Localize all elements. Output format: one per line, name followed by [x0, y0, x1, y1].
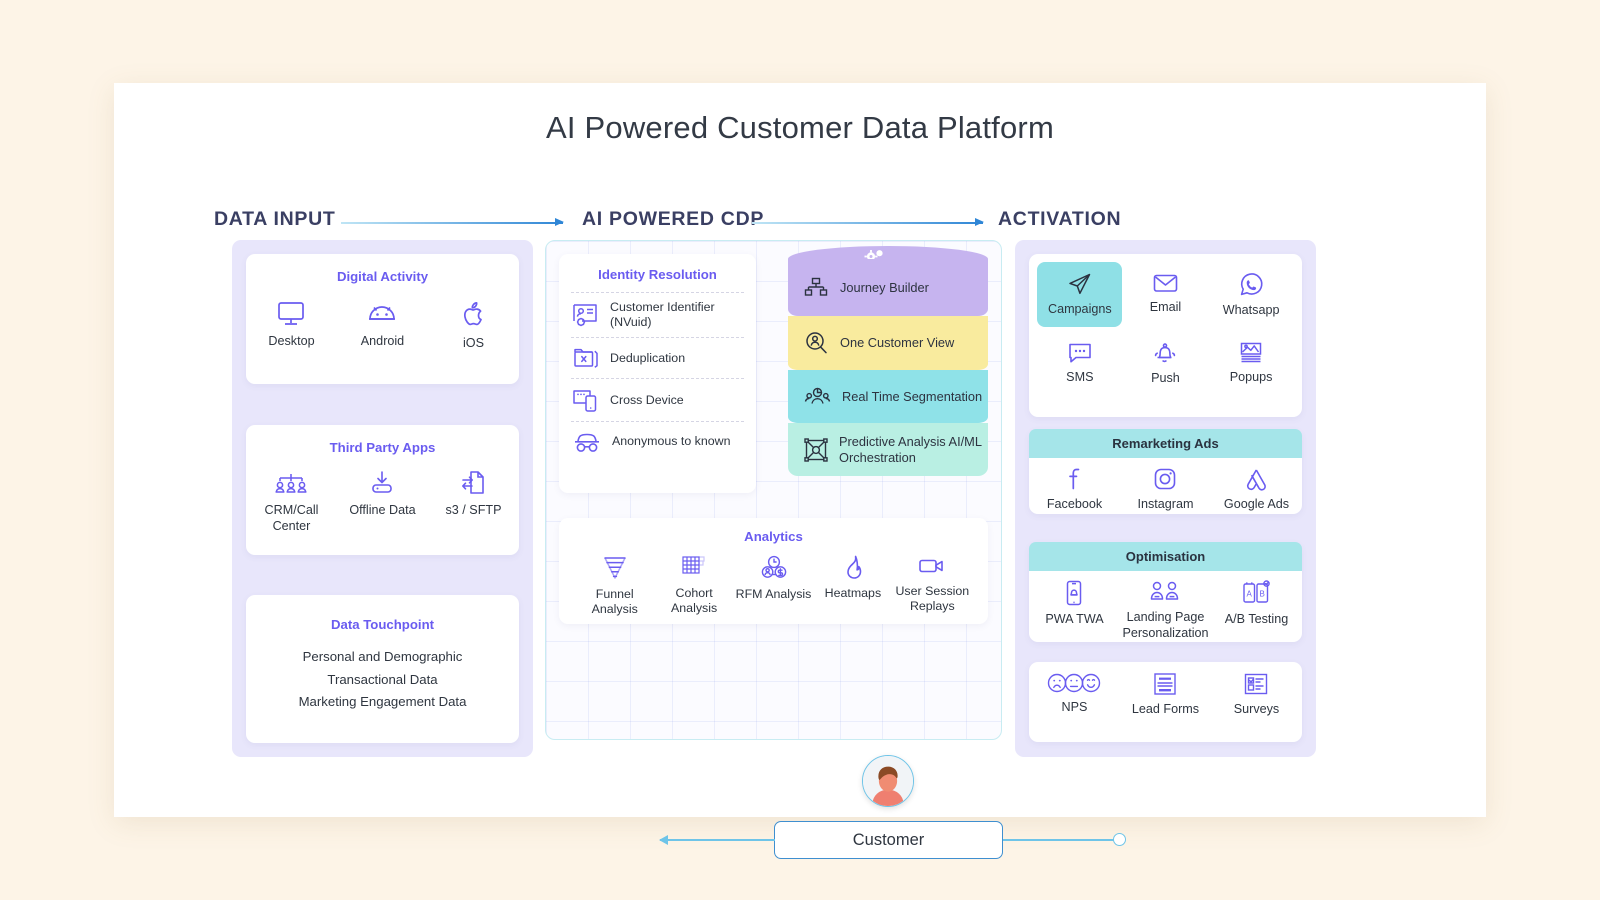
optimisation-item-landing-page-personalization[interactable]: Landing Page Personalization [1120, 580, 1210, 641]
remarketing-ads-card: Remarketing Ads Facebook [1029, 429, 1302, 514]
mobile-app-icon [1064, 580, 1084, 606]
analytics-card: Analytics Funnel Analysis [559, 518, 988, 624]
identity-item-anonymous-to-known[interactable]: Anonymous to known [571, 421, 744, 461]
paper-plane-icon [1067, 272, 1093, 296]
grid-cohort-icon [681, 554, 708, 580]
label: SMS [1066, 370, 1093, 386]
label: A/B Testing [1225, 612, 1288, 628]
sms-bubble-icon [1067, 341, 1093, 364]
label: Cohort Analysis [654, 586, 733, 617]
label: Cross Device [610, 393, 684, 408]
label: Surveys [1234, 702, 1280, 718]
bell-icon [1152, 341, 1178, 365]
arrow-cdp-to-activation [752, 222, 983, 224]
label: Customer Identifier (NVuid) [610, 300, 744, 330]
identity-resolution-title: Identity Resolution [559, 267, 756, 282]
feedback-item-surveys[interactable]: Surveys [1211, 672, 1301, 718]
label: Real Time Segmentation [842, 389, 982, 404]
activation-item-email[interactable]: Email [1123, 262, 1208, 325]
label: Android [361, 334, 404, 350]
data-input-column: Digital Activity Desktop [232, 240, 533, 757]
label: iOS [463, 336, 484, 352]
android-icon [366, 300, 398, 328]
feedback-item-lead-forms[interactable]: Lead Forms [1120, 672, 1210, 718]
cdp-core-stack: Journey Builder One Customer View [788, 246, 988, 481]
person-search-icon [804, 331, 829, 355]
analytics-item-heatmaps[interactable]: Heatmaps [813, 554, 892, 618]
label: Instagram [1137, 497, 1193, 513]
desktop-icon [276, 300, 306, 328]
file-transfer-icon [459, 469, 487, 497]
activation-item-whatsapp[interactable]: Whatsapp [1209, 262, 1294, 328]
data-touchpoint-card: Data Touchpoint Personal and Demographic… [246, 595, 519, 743]
stage-label-data-input: DATA INPUT [214, 208, 335, 231]
activation-item-push[interactable]: Push [1123, 335, 1208, 396]
sitemap-icon [804, 277, 829, 299]
flow-endpoint-circle [1113, 833, 1126, 846]
stack-band-journey-builder[interactable]: Journey Builder [788, 259, 988, 316]
identity-item-deduplication[interactable]: Deduplication [571, 337, 744, 378]
customer-box[interactable]: Customer [774, 821, 1003, 859]
label: Deduplication [610, 351, 685, 366]
label: Whatsapp [1223, 303, 1280, 319]
analytics-item-cohort-analysis[interactable]: Cohort Analysis [654, 554, 733, 618]
funnel-icon [602, 554, 628, 581]
label: NPS [1062, 700, 1088, 716]
optimisation-card: Optimisation PWA TWA [1029, 542, 1302, 642]
stack-band-real-time-segmentation[interactable]: Real Time Segmentation [788, 370, 988, 423]
feedback-item-nps[interactable]: NPS [1029, 672, 1119, 716]
envelope-icon [1152, 272, 1179, 294]
label: Landing Page Personalization [1120, 610, 1210, 641]
org-chart-icon [274, 469, 308, 497]
optimisation-item-pwa-twa[interactable]: PWA TWA [1029, 580, 1119, 628]
data-source-desktop[interactable]: Desktop [246, 300, 336, 350]
svg-text:B: B [1260, 590, 1265, 599]
label: Desktop [268, 334, 314, 350]
cross-device-icon [571, 386, 601, 414]
label: Popups [1230, 370, 1273, 386]
remarketing-ads-title: Remarketing Ads [1029, 429, 1302, 458]
flame-icon [842, 554, 864, 580]
label: Push [1151, 371, 1180, 387]
activation-item-sms[interactable]: SMS [1037, 335, 1122, 395]
touchpoint-line: Transactional Data [246, 669, 519, 692]
analytics-title: Analytics [559, 529, 988, 544]
ads-item-google-ads[interactable]: Google Ads [1211, 467, 1301, 513]
channels-card: Campaigns Email [1029, 254, 1302, 417]
label: Journey Builder [840, 280, 929, 295]
optimisation-item-ab-testing[interactable]: A B A/B Testing [1211, 580, 1301, 628]
data-source-ios[interactable]: iOS [428, 300, 518, 352]
flow-arrow-left [659, 835, 668, 845]
arrow-input-to-cdp [341, 222, 563, 224]
label: s3 / SFTP [446, 503, 502, 519]
segment-users-icon [804, 386, 831, 408]
stage-label-activation: ACTIVATION [998, 208, 1121, 231]
analytics-item-rfm-analysis[interactable]: RFM Analysis [734, 554, 813, 618]
third-party-apps-title: Third Party Apps [246, 440, 519, 455]
label: CRM/Call Center [246, 503, 336, 534]
label: Campaigns [1048, 302, 1112, 318]
touchpoint-line: Marketing Engagement Data [246, 691, 519, 714]
label: Funnel Analysis [575, 587, 654, 618]
identity-resolution-card: Identity Resolution Customer Identifier … [559, 254, 756, 493]
label: One Customer View [840, 335, 954, 350]
analytics-item-user-session-replays[interactable]: User Session Replays [893, 554, 972, 618]
popup-image-icon [1238, 341, 1264, 364]
label: Facebook [1047, 497, 1102, 513]
customer-label: Customer [853, 831, 925, 850]
digital-activity-card: Digital Activity Desktop [246, 254, 519, 384]
label: Google Ads [1224, 497, 1289, 513]
smiley-faces-icon [1047, 672, 1101, 694]
flow-line-right [1003, 839, 1119, 841]
id-card-gear-icon [571, 300, 601, 330]
label: Lead Forms [1132, 702, 1199, 718]
incognito-icon [571, 430, 603, 454]
identity-item-cross-device[interactable]: Cross Device [571, 378, 744, 421]
label: Heatmaps [825, 586, 881, 601]
label: Offline Data [349, 503, 415, 519]
third-party-apps-card: Third Party Apps CRM/Call Center [246, 425, 519, 555]
stack-band-predictive-analysis[interactable]: Predictive Analysis AI/ML Orchestration [788, 423, 988, 476]
data-source-android[interactable]: Android [337, 300, 427, 350]
data-source-s3-sftp[interactable]: s3 / SFTP [428, 469, 518, 519]
folder-x-icon [571, 345, 601, 371]
data-source-offline-data[interactable]: Offline Data [337, 469, 427, 519]
customer-avatar [862, 755, 914, 807]
data-source-crm-call-center[interactable]: CRM/Call Center [246, 469, 336, 534]
optimisation-title: Optimisation [1029, 542, 1302, 571]
ab-test-icon: A B [1242, 580, 1270, 606]
identity-item-customer-identifier[interactable]: Customer Identifier (NVuid) [571, 292, 744, 337]
ads-item-instagram[interactable]: Instagram [1120, 467, 1210, 513]
label: PWA TWA [1045, 612, 1103, 628]
label: Anonymous to known [612, 434, 730, 449]
google-ads-icon [1244, 467, 1269, 491]
stage-header-row: DATA INPUT AI POWERED CDP ACTIVATION [114, 208, 1486, 238]
stage-label-ai-powered-cdp: AI POWERED CDP [582, 208, 764, 231]
label: Email [1150, 300, 1182, 316]
activation-item-popups[interactable]: Popups [1209, 335, 1294, 395]
rfm-icon [760, 554, 788, 581]
activation-item-campaigns[interactable]: Campaigns [1037, 262, 1122, 327]
ads-item-facebook[interactable]: Facebook [1029, 467, 1119, 513]
two-persons-icon [1148, 580, 1182, 604]
activation-column: Campaigns Email [1015, 240, 1316, 757]
whatsapp-icon [1239, 272, 1264, 297]
feedback-card: NPS Lead Forms [1029, 662, 1302, 742]
survey-checklist-icon [1243, 672, 1269, 696]
download-device-icon [367, 469, 397, 497]
instagram-icon [1153, 467, 1177, 491]
predictive-ai-icon [804, 438, 828, 462]
video-camera-icon [918, 554, 946, 578]
label: RFM Analysis [736, 587, 812, 602]
facebook-icon [1065, 467, 1083, 491]
touchpoint-line: Personal and Demographic [246, 646, 519, 669]
label: User Session Replays [893, 584, 972, 615]
diagram-card: AI Powered Customer Data Platform DATA I… [114, 83, 1486, 817]
data-touchpoint-title: Data Touchpoint [246, 617, 519, 632]
digital-activity-title: Digital Activity [246, 269, 519, 284]
stack-band-one-customer-view[interactable]: One Customer View [788, 316, 988, 370]
analytics-item-funnel-analysis[interactable]: Funnel Analysis [575, 554, 654, 618]
label: Predictive Analysis AI/ML Orchestration [839, 434, 988, 465]
apple-icon [460, 300, 486, 330]
ai-powered-cdp-column: Identity Resolution Customer Identifier … [545, 240, 1002, 740]
svg-text:A: A [1247, 590, 1253, 599]
page-title: AI Powered Customer Data Platform [114, 110, 1486, 146]
flow-line-left [660, 839, 775, 841]
form-icon [1152, 672, 1178, 696]
